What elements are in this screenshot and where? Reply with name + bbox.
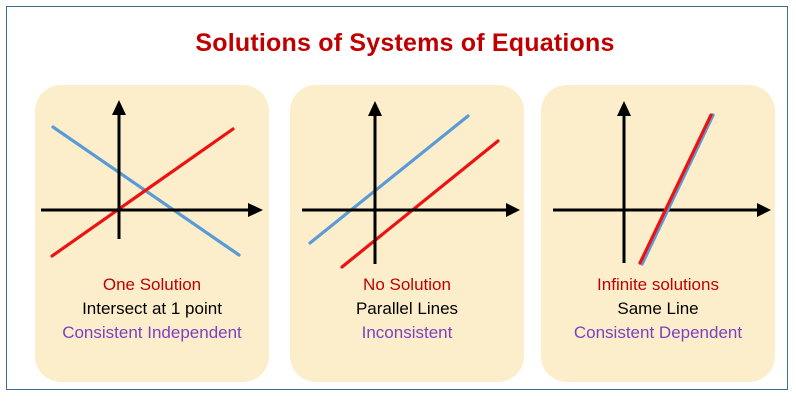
line-red-positive-slope <box>52 129 233 256</box>
panel-one-solution: One Solution Intersect at 1 point Consis… <box>35 85 269 382</box>
graph-infinite-solutions <box>541 91 775 281</box>
caption-classification: Consistent Dependent <box>541 321 775 345</box>
caption-headline: One Solution <box>35 273 269 297</box>
line-blue-coincident <box>642 115 713 264</box>
line-blue-upper <box>310 116 468 243</box>
caption-description: Parallel Lines <box>290 297 524 321</box>
caption-no-solution: No Solution Parallel Lines Inconsistent <box>290 273 524 345</box>
y-axis-arrow-icon <box>112 100 126 115</box>
x-axis-arrow-icon <box>248 203 263 217</box>
x-axis-arrow-icon <box>506 203 520 217</box>
y-axis-arrow-icon <box>617 101 631 116</box>
caption-description: Intersect at 1 point <box>35 297 269 321</box>
graph-one-solution <box>35 91 269 281</box>
caption-description: Same Line <box>541 297 775 321</box>
panel-no-solution: No Solution Parallel Lines Inconsistent <box>290 85 524 382</box>
diagram-frame: Solutions of Systems of Equations One So… <box>6 6 788 390</box>
panel-infinite-solutions: Infinite solutions Same Line Consistent … <box>541 85 775 382</box>
caption-classification: Inconsistent <box>290 321 524 345</box>
caption-classification: Consistent Independent <box>35 321 269 345</box>
caption-headline: Infinite solutions <box>541 273 775 297</box>
line-red-coincident <box>640 115 711 263</box>
y-axis-arrow-icon <box>368 101 382 116</box>
page-title: Solutions of Systems of Equations <box>7 29 796 58</box>
caption-one-solution: One Solution Intersect at 1 point Consis… <box>35 273 269 345</box>
graph-no-solution <box>290 91 524 281</box>
x-axis-arrow-icon <box>757 203 771 217</box>
caption-infinite-solutions: Infinite solutions Same Line Consistent … <box>541 273 775 345</box>
caption-headline: No Solution <box>290 273 524 297</box>
line-red-lower <box>342 141 498 267</box>
